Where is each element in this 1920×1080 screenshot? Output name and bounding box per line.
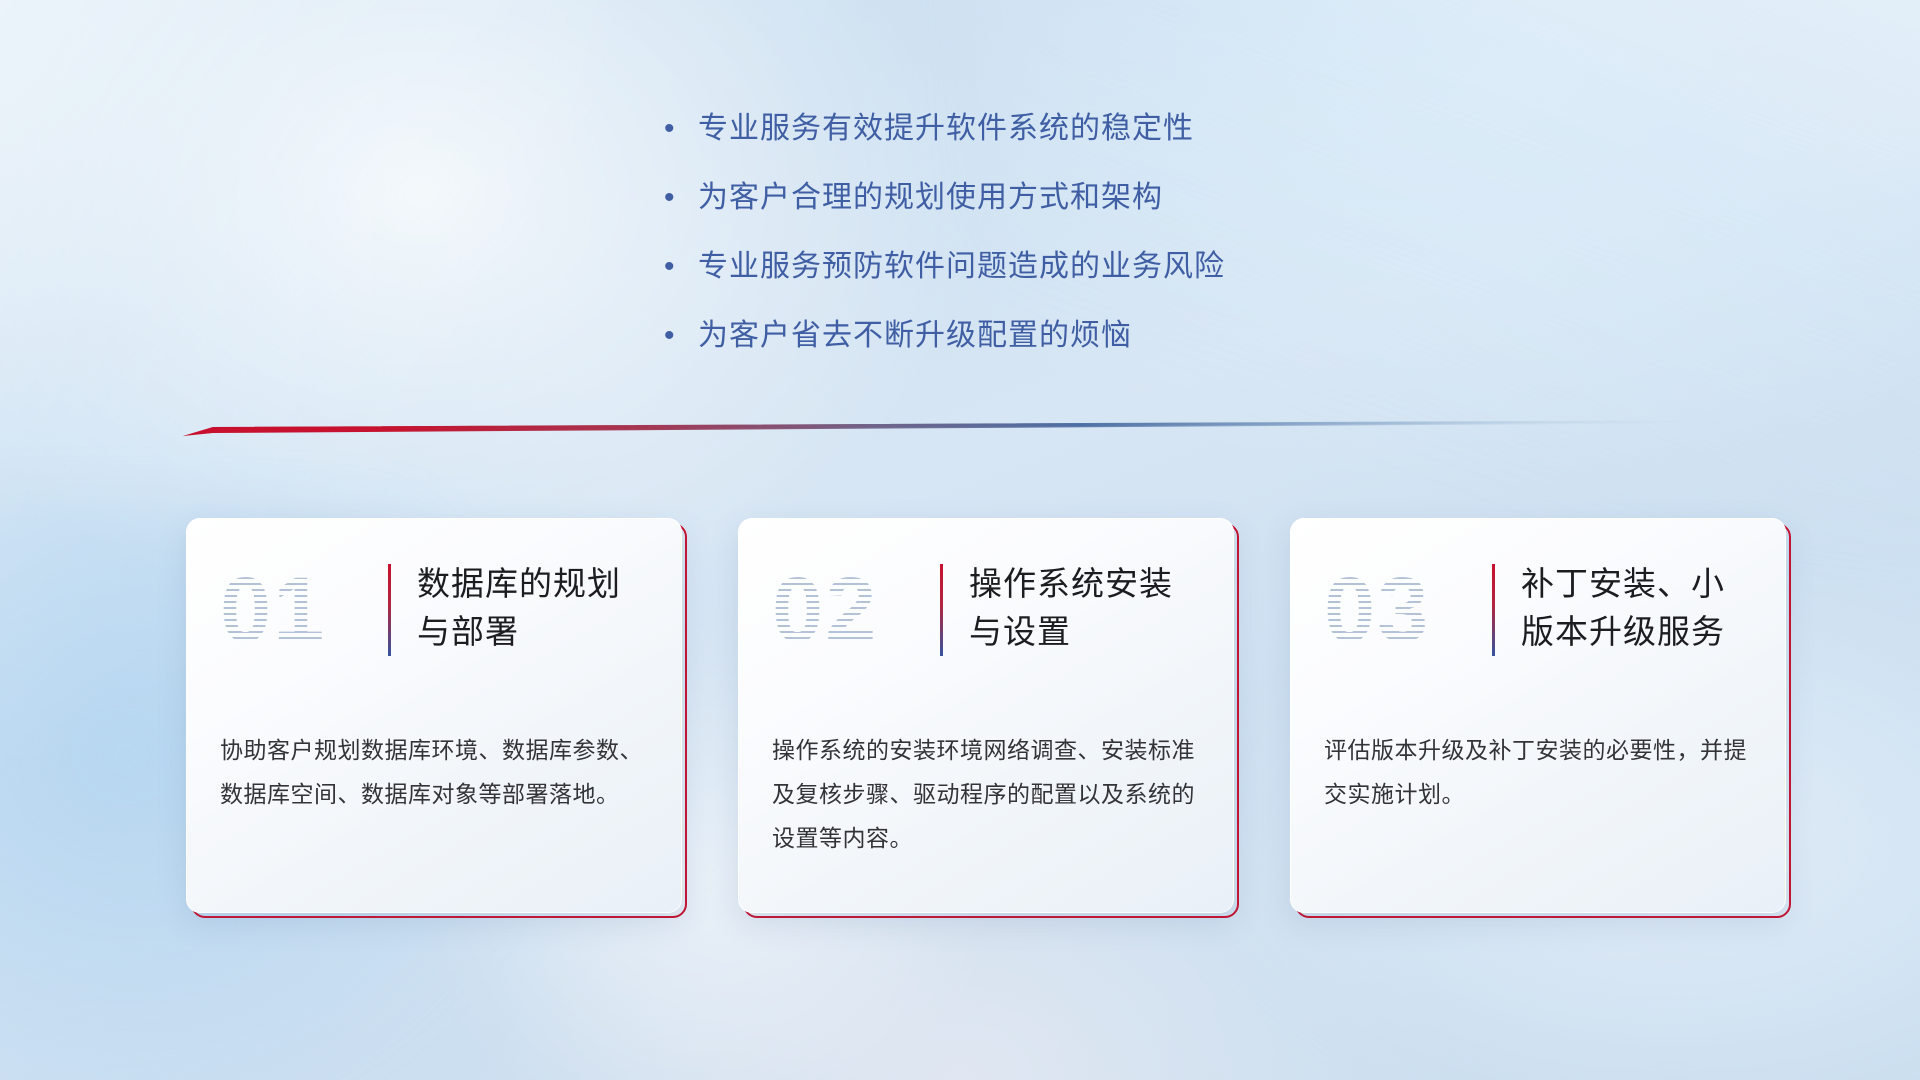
bullet-marker-icon: • bbox=[660, 177, 698, 219]
bullet-item: • 为客户省去不断升级配置的烦恼 bbox=[660, 315, 1420, 357]
card-title: 数据库的规划与部署 bbox=[417, 556, 648, 656]
card-title-divider bbox=[940, 564, 943, 656]
card-number-watermark: 02 bbox=[772, 556, 940, 666]
card-number-text: 03 bbox=[1324, 559, 1430, 661]
card-surface: 03 补丁安装、小版本升级服务 评估版本升级及补丁安装的必要性，并提交实施计划。 bbox=[1290, 518, 1786, 913]
card-title-divider bbox=[388, 564, 391, 656]
bullet-item: • 专业服务有效提升软件系统的稳定性 bbox=[660, 108, 1420, 150]
card-body-text: 协助客户规划数据库环境、数据库参数、数据库空间、数据库对象等部署落地。 bbox=[220, 728, 648, 816]
card-number-text: 02 bbox=[772, 559, 878, 661]
divider-tapered-line-icon bbox=[183, 420, 1728, 442]
bullet-marker-icon: • bbox=[660, 246, 698, 288]
card-title: 操作系统安装与设置 bbox=[969, 556, 1200, 656]
card-number-watermark: 01 bbox=[220, 556, 388, 666]
bullet-marker-icon: • bbox=[660, 108, 698, 150]
card-title-divider bbox=[1492, 564, 1495, 656]
card-number-watermark: 03 bbox=[1324, 556, 1492, 666]
service-card[interactable]: 03 补丁安装、小版本升级服务 评估版本升级及补丁安装的必要性，并提交实施计划。 bbox=[1290, 518, 1786, 913]
card-body-text: 评估版本升级及补丁安装的必要性，并提交实施计划。 bbox=[1324, 728, 1752, 816]
card-number-text: 01 bbox=[220, 559, 326, 661]
bullet-text: 专业服务有效提升软件系统的稳定性 bbox=[698, 108, 1194, 150]
card-header: 01 数据库的规划与部署 bbox=[220, 556, 648, 674]
card-header: 02 操作系统安装与设置 bbox=[772, 556, 1200, 674]
card-title: 补丁安装、小版本升级服务 bbox=[1521, 556, 1752, 656]
benefits-bullet-list: • 专业服务有效提升软件系统的稳定性 • 为客户合理的规划使用方式和架构 • 专… bbox=[660, 108, 1420, 384]
card-surface: 01 数据库的规划与部署 协助客户规划数据库环境、数据库参数、数据库空间、数据库… bbox=[186, 518, 682, 913]
card-header: 03 补丁安装、小版本升级服务 bbox=[1324, 556, 1752, 674]
bullet-item: • 为客户合理的规划使用方式和架构 bbox=[660, 177, 1420, 219]
card-body-text: 操作系统的安装环境网络调查、安装标准及复核步骤、驱动程序的配置以及系统的设置等内… bbox=[772, 728, 1200, 860]
section-divider bbox=[183, 420, 1728, 442]
service-card[interactable]: 01 数据库的规划与部署 协助客户规划数据库环境、数据库参数、数据库空间、数据库… bbox=[186, 518, 682, 913]
bullet-item: • 专业服务预防软件问题造成的业务风险 bbox=[660, 246, 1420, 288]
bullet-marker-icon: • bbox=[660, 315, 698, 357]
slide-canvas: • 专业服务有效提升软件系统的稳定性 • 为客户合理的规划使用方式和架构 • 专… bbox=[0, 0, 1920, 1080]
bullet-text: 为客户省去不断升级配置的烦恼 bbox=[698, 315, 1132, 357]
card-surface: 02 操作系统安装与设置 操作系统的安装环境网络调查、安装标准及复核步骤、驱动程… bbox=[738, 518, 1234, 913]
service-card[interactable]: 02 操作系统安装与设置 操作系统的安装环境网络调查、安装标准及复核步骤、驱动程… bbox=[738, 518, 1234, 913]
bullet-text: 专业服务预防软件问题造成的业务风险 bbox=[698, 246, 1225, 288]
bullet-text: 为客户合理的规划使用方式和架构 bbox=[698, 177, 1163, 219]
service-card-list: 01 数据库的规划与部署 协助客户规划数据库环境、数据库参数、数据库空间、数据库… bbox=[186, 518, 1786, 913]
